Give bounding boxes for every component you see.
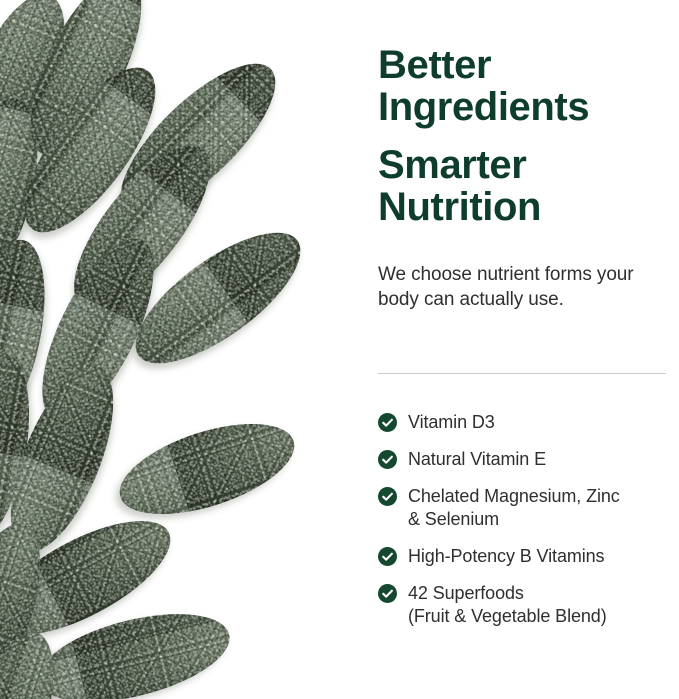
check-circle-icon bbox=[378, 487, 397, 506]
product-benefits-graphic: Better Ingredients Smarter Nutrition We … bbox=[0, 0, 679, 699]
benefits-list: Vitamin D3Natural Vitamin EChelated Magn… bbox=[378, 411, 670, 628]
list-item: 42 Superfoods (Fruit & Vegetable Blend) bbox=[378, 582, 670, 628]
list-item-label: 42 Superfoods (Fruit & Vegetable Blend) bbox=[408, 582, 607, 628]
list-item-label: Chelated Magnesium, Zinc & Selenium bbox=[408, 485, 620, 531]
green-tablets-photo bbox=[0, 0, 370, 699]
subheading-text: We choose nutrient forms your body can a… bbox=[378, 262, 666, 312]
list-item: High-Potency B Vitamins bbox=[378, 545, 670, 568]
tablet bbox=[109, 406, 305, 533]
list-item-label: Natural Vitamin E bbox=[408, 448, 546, 471]
list-item: Vitamin D3 bbox=[378, 411, 670, 434]
copy-column: Better Ingredients Smarter Nutrition We … bbox=[378, 0, 667, 699]
list-item-label: High-Potency B Vitamins bbox=[408, 545, 604, 568]
check-circle-icon bbox=[378, 584, 397, 603]
list-item: Chelated Magnesium, Zinc & Selenium bbox=[378, 485, 670, 531]
list-item: Natural Vitamin E bbox=[378, 448, 670, 471]
page-title-secondary: Smarter Nutrition bbox=[378, 144, 541, 229]
check-circle-icon bbox=[378, 450, 397, 469]
page-title-primary: Better Ingredients bbox=[378, 44, 589, 129]
list-item-label: Vitamin D3 bbox=[408, 411, 495, 434]
check-circle-icon bbox=[378, 547, 397, 566]
check-circle-icon bbox=[378, 413, 397, 432]
divider bbox=[378, 373, 666, 374]
